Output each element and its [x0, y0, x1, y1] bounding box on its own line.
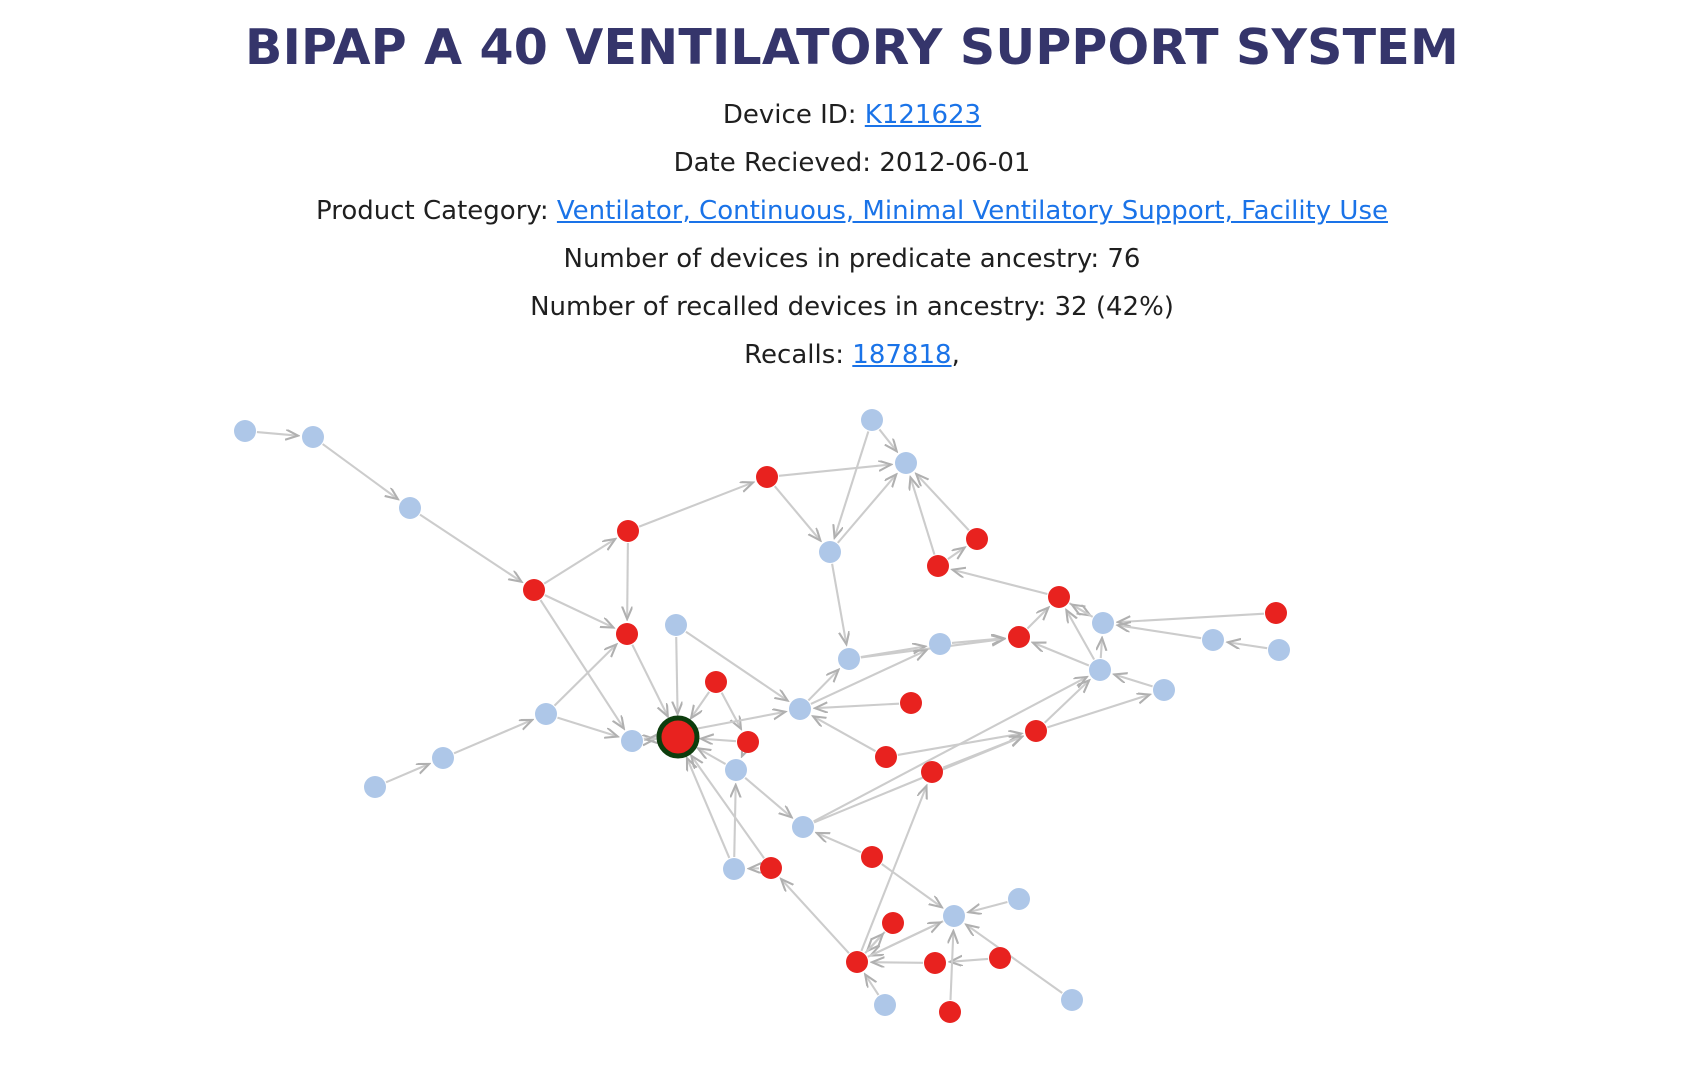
- graph-node-device[interactable]: [1089, 659, 1111, 681]
- graph-edge: [676, 637, 677, 714]
- graph-node-device[interactable]: [838, 648, 860, 670]
- graph-edge: [781, 879, 849, 953]
- graph-edge: [647, 739, 658, 740]
- page-root: BIPAP A 40 VENTILATORY SUPPORT SYSTEM De…: [0, 0, 1704, 1070]
- date-received-label: Date Recieved:: [674, 148, 880, 178]
- product-category-label: Product Category:: [316, 196, 557, 226]
- graph-edge: [745, 778, 791, 818]
- graph-node-device[interactable]: [665, 614, 687, 636]
- graph-node-recalled-device[interactable]: [989, 947, 1011, 969]
- graph-node-device[interactable]: [1153, 679, 1175, 701]
- graph-edge: [948, 548, 965, 560]
- date-received-line: Date Recieved: 2012-06-01: [0, 139, 1704, 187]
- graph-node-device[interactable]: [929, 633, 951, 655]
- graph-node-recalled-device[interactable]: [1025, 720, 1047, 742]
- graph-node-device[interactable]: [1202, 629, 1224, 651]
- graph-node-recalled-device[interactable]: [1048, 586, 1070, 608]
- graph-edge: [691, 692, 709, 718]
- predicate-ancestry-count: Number of devices in predicate ancestry:…: [0, 235, 1704, 283]
- graph-edge: [872, 962, 923, 963]
- graph-node-device[interactable]: [943, 905, 965, 927]
- graph-edge: [1047, 695, 1149, 728]
- graph-node-device[interactable]: [725, 759, 747, 781]
- graph-node-device[interactable]: [895, 452, 917, 474]
- graph-edge: [838, 474, 896, 542]
- graph-edge: [257, 432, 298, 436]
- graph-node-recalled-device[interactable]: [900, 692, 922, 714]
- graph-node-device[interactable]: [861, 409, 883, 431]
- graph-edge: [950, 931, 953, 1000]
- graph-node-recalled-device[interactable]: [760, 857, 782, 879]
- graph-node-device[interactable]: [723, 858, 745, 880]
- graph-edge: [701, 739, 736, 742]
- device-id-link[interactable]: K121623: [865, 100, 981, 130]
- predicate-ancestry-graph[interactable]: [0, 395, 1704, 1070]
- graph-edge: [832, 564, 846, 644]
- graph-edge: [323, 444, 398, 499]
- graph-edge: [779, 465, 891, 476]
- graph-node-recalled-device[interactable]: [523, 579, 545, 601]
- graph-node-recalled-device[interactable]: [861, 846, 883, 868]
- graph-edge: [1066, 610, 1094, 659]
- graph-node-recalled-device[interactable]: [875, 746, 897, 768]
- graph-edge: [454, 720, 532, 753]
- recalls-trailing-comma: ,: [952, 340, 960, 370]
- graph-edge: [882, 864, 942, 907]
- graph-edge: [814, 677, 1087, 821]
- recall-link-187818[interactable]: 187818: [852, 340, 951, 370]
- graph-edge: [557, 718, 617, 737]
- graph-node-recalled-device[interactable]: [939, 1001, 961, 1023]
- graph-edge: [420, 515, 521, 582]
- graph-edge: [1072, 605, 1093, 617]
- date-received-value: 2012-06-01: [879, 148, 1030, 178]
- graph-edge: [639, 482, 753, 526]
- graph-edge: [969, 902, 1008, 912]
- graph-edge: [775, 486, 821, 540]
- graph-node-recalled-device[interactable]: [882, 912, 904, 934]
- graph-node-focus-device[interactable]: [659, 718, 697, 756]
- graph-node-device[interactable]: [1092, 612, 1114, 634]
- graph-node-recalled-device[interactable]: [924, 952, 946, 974]
- graph-node-device[interactable]: [1061, 989, 1083, 1011]
- graph-edge: [627, 543, 628, 619]
- graph-edge: [815, 704, 899, 709]
- graph-edge: [386, 764, 429, 782]
- graph-node-device[interactable]: [535, 703, 557, 725]
- graph-edge: [808, 670, 838, 701]
- graph-edge: [813, 716, 875, 751]
- graph-node-recalled-device[interactable]: [1265, 602, 1287, 624]
- graph-node-recalled-device[interactable]: [617, 520, 639, 542]
- recalls-label: Recalls:: [744, 340, 852, 370]
- graph-node-device[interactable]: [364, 776, 386, 798]
- product-category-line: Product Category: Ventilator, Continuous…: [0, 187, 1704, 235]
- graph-node-device[interactable]: [1268, 639, 1290, 661]
- recalled-ancestry-count: Number of recalled devices in ancestry: …: [0, 283, 1704, 331]
- graph-node-device[interactable]: [874, 994, 896, 1016]
- graph-node-recalled-device[interactable]: [737, 731, 759, 753]
- graph-node-device[interactable]: [302, 426, 324, 448]
- graph-node-recalled-device[interactable]: [1008, 626, 1030, 648]
- graph-edge: [686, 632, 788, 701]
- graph-edge: [1118, 614, 1264, 622]
- graph-edge: [1228, 642, 1267, 648]
- graph-edge: [817, 833, 861, 852]
- graph-edge: [835, 431, 869, 537]
- graph-edge: [632, 645, 667, 717]
- graph-edge: [1114, 674, 1152, 686]
- page-title: BIPAP A 40 VENTILATORY SUPPORT SYSTEM: [0, 22, 1704, 75]
- graph-edge: [1101, 638, 1102, 658]
- graph-edge: [953, 570, 1048, 594]
- graph-edge: [879, 429, 896, 451]
- page-header: BIPAP A 40 VENTILATORY SUPPORT SYSTEM De…: [0, 0, 1704, 379]
- recalls-line: Recalls: 187818,: [0, 331, 1704, 379]
- graph-node-device[interactable]: [432, 747, 454, 769]
- graph-edge: [698, 748, 726, 764]
- device-id-line: Device ID: K121623: [0, 91, 1704, 139]
- graph-node-device[interactable]: [1008, 888, 1030, 910]
- graph-node-device[interactable]: [399, 497, 421, 519]
- graph-edge: [544, 539, 615, 584]
- graph-edge: [734, 785, 735, 857]
- device-id-label: Device ID:: [723, 100, 865, 130]
- graph-edge: [1027, 608, 1048, 629]
- graph-edge: [555, 645, 617, 706]
- graph-node-device[interactable]: [234, 420, 256, 442]
- graph-node-recalled-device[interactable]: [921, 761, 943, 783]
- graph-node-recalled-device[interactable]: [705, 671, 727, 693]
- product-category-link[interactable]: Ventilator, Continuous, Minimal Ventilat…: [557, 196, 1388, 226]
- graph-node-recalled-device[interactable]: [616, 623, 638, 645]
- graph-edge: [1033, 643, 1089, 666]
- graph-edge: [950, 959, 988, 962]
- network-graph-svg[interactable]: [0, 395, 1704, 1070]
- graph-node-recalled-device[interactable]: [966, 528, 988, 550]
- graph-node-device[interactable]: [621, 730, 643, 752]
- graph-node-device[interactable]: [789, 698, 811, 720]
- graph-edge: [865, 975, 878, 995]
- graph-node-recalled-device[interactable]: [927, 555, 949, 577]
- graph-edge: [1118, 625, 1201, 638]
- graph-node-device[interactable]: [792, 816, 814, 838]
- graph-edge: [687, 758, 729, 858]
- graph-node-recalled-device[interactable]: [756, 466, 778, 488]
- graph-node-recalled-device[interactable]: [846, 951, 868, 973]
- graph-edge: [742, 753, 743, 756]
- graph-node-device[interactable]: [819, 541, 841, 563]
